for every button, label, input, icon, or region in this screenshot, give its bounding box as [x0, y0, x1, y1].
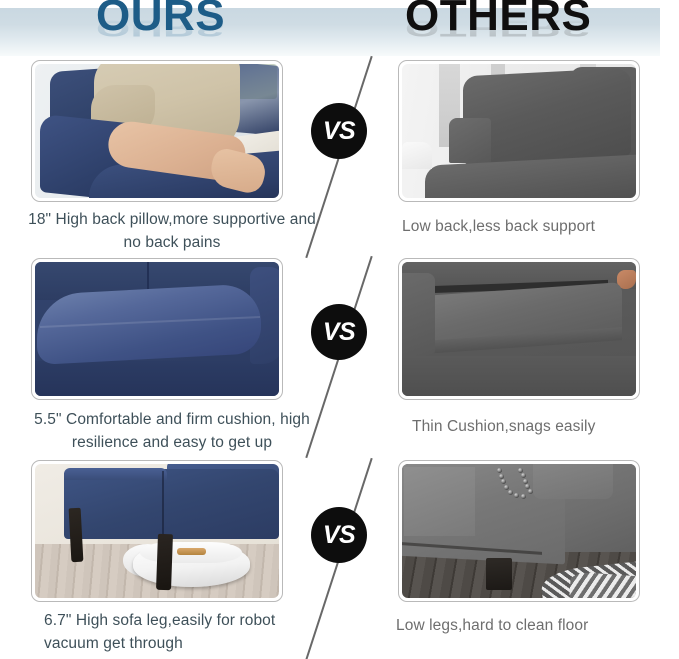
ours-caption: 6.7" High sofa leg,easily for robot vacu…	[22, 609, 322, 655]
scene-tall-legs-robot-vacuum	[35, 464, 279, 598]
comparison-infographic: OURS OTHERS OURS OTHERS	[0, 0, 679, 659]
others-caption: Thin Cushion,snags easily	[388, 415, 660, 438]
others-caption: Low legs,hard to clean floor	[388, 614, 660, 637]
comparison-rows: 18" High back pillow,more supportive and…	[0, 57, 679, 659]
others-caption: Low back,less back support	[388, 215, 660, 238]
comparison-row: 18" High back pillow,more supportive and…	[0, 57, 679, 257]
scene-low-back-gray-sofa	[402, 64, 636, 198]
header-titles: OURS OTHERS OURS OTHERS	[0, 0, 679, 57]
header: OURS OTHERS OURS OTHERS	[0, 0, 679, 57]
others-title: OTHERS	[405, 0, 591, 41]
others-photo	[398, 460, 640, 602]
nailhead-trim	[496, 467, 547, 513]
others-photo	[398, 258, 640, 400]
ours-photo	[31, 60, 283, 202]
ours-title: OURS	[96, 0, 225, 41]
comparison-row: 6.7" High sofa leg,easily for robot vacu…	[0, 459, 679, 659]
scene-thick-navy-cushion	[35, 262, 279, 396]
ours-caption: 18" High back pillow,more supportive and…	[22, 208, 322, 254]
scene-person-high-back-sofa	[35, 64, 279, 198]
vs-badge: VS	[311, 507, 367, 563]
vs-badge: VS	[311, 103, 367, 159]
ours-photo	[31, 258, 283, 400]
scene-short-legs-dark-floor	[402, 464, 636, 598]
others-photo	[398, 60, 640, 202]
ours-photo	[31, 460, 283, 602]
comparison-row: 5.5" Comfortable and firm cushion, high …	[0, 257, 679, 459]
vs-badge: VS	[311, 304, 367, 360]
scene-thin-gray-cushion	[402, 262, 636, 396]
ours-caption: 5.5" Comfortable and firm cushion, high …	[22, 408, 322, 454]
